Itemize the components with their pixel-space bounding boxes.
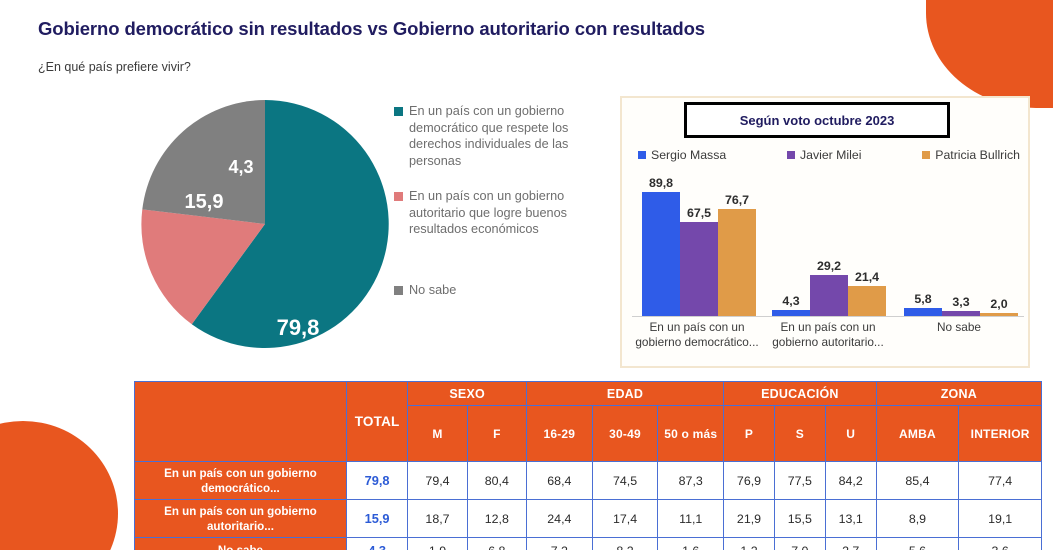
- table-cell: 80,4: [467, 462, 526, 500]
- table-cell-total: 4,3: [346, 538, 407, 550]
- table-header-zona: ZONA: [876, 382, 1041, 406]
- table-header-30-49: 30-49: [592, 406, 658, 462]
- pie-chart: 79,8 15,9 4,3: [140, 98, 390, 350]
- bar-column: 89,8: [642, 176, 680, 316]
- pie-legend-item-nosabe: No sabe: [394, 282, 599, 299]
- bar-value-label: 2,0: [990, 297, 1007, 311]
- table-header-p: P: [724, 406, 775, 462]
- table-cell-total: 79,8: [346, 462, 407, 500]
- pie-legend-label: No sabe: [409, 282, 456, 299]
- bar-legend-item-bullrich: Patricia Bullrich: [922, 148, 1020, 162]
- bar-legend-label: Javier Milei: [800, 148, 862, 162]
- pie-chart-svg: 79,8 15,9 4,3: [140, 98, 390, 350]
- bar-category-label: No sabe: [894, 320, 1024, 335]
- legend-swatch-teal-icon: [394, 107, 403, 116]
- table-cell: 5,6: [876, 538, 959, 550]
- bar-chart-title: Según voto octubre 2023: [740, 113, 895, 128]
- pie-legend-label: En un país con un gobierno democrático q…: [409, 103, 599, 169]
- bar-legend-item-milei: Javier Milei: [787, 148, 862, 162]
- bar-chart-legend: Sergio Massa Javier Milei Patricia Bullr…: [630, 148, 1024, 162]
- decorative-shape-bottom-left: [0, 421, 118, 550]
- table-cell: 87,3: [658, 462, 724, 500]
- bar-category-label: En un país con un gobierno autoritario..…: [762, 320, 894, 349]
- pie-label-autoritario: 15,9: [185, 191, 224, 213]
- table-row: En un país con un gobierno autoritario..…: [135, 500, 1042, 538]
- bar-value-label: 4,3: [782, 294, 799, 308]
- table-cell: 18,7: [408, 500, 467, 538]
- table-row-label: En un país con un gobierno autoritario..…: [135, 500, 347, 538]
- bar-legend-label: Sergio Massa: [651, 148, 726, 162]
- bar-value-label: 3,3: [952, 295, 969, 309]
- table-cell: 84,2: [825, 462, 876, 500]
- table-header-s: S: [774, 406, 825, 462]
- page-title: Gobierno democrático sin resultados vs G…: [38, 18, 705, 40]
- table-cell: 79,4: [408, 462, 467, 500]
- bar-value-label: 76,7: [725, 193, 749, 207]
- bar-chart-title-box: Según voto octubre 2023: [684, 102, 950, 138]
- legend-swatch-gray-icon: [394, 286, 403, 295]
- table-cell: 15,5: [774, 500, 825, 538]
- table-row-label: En un país con un gobierno democrático..…: [135, 462, 347, 500]
- table-cell: 8,2: [592, 538, 658, 550]
- bar-chart-panel: Según voto octubre 2023 Sergio Massa Jav…: [620, 96, 1030, 368]
- pie-legend-label: En un país con un gobierno autoritario q…: [409, 188, 599, 238]
- decorative-shape-top-right: [926, 0, 1053, 108]
- legend-swatch-pink-icon: [394, 192, 403, 201]
- table-cell: 11,1: [658, 500, 724, 538]
- table-header-u: U: [825, 406, 876, 462]
- table-cell: 12,8: [467, 500, 526, 538]
- bar-column: 2,0: [980, 176, 1018, 316]
- table-cell: 7,2: [527, 538, 593, 550]
- table-cell-total: 15,9: [346, 500, 407, 538]
- table-header-amba: AMBA: [876, 406, 959, 462]
- table-header-total: TOTAL: [346, 382, 407, 462]
- table-cell: 19,1: [959, 500, 1042, 538]
- bar-value-label: 5,8: [914, 292, 931, 306]
- table-header-m: M: [408, 406, 467, 462]
- legend-swatch-orange-icon: [922, 151, 930, 159]
- table-header-edad: EDAD: [527, 382, 724, 406]
- table-cell: 7,0: [774, 538, 825, 550]
- bar-column: 29,2: [810, 176, 848, 316]
- crosstab-table: TOTAL SEXO EDAD EDUCACIÓN ZONA M F 16-29…: [134, 381, 1042, 550]
- bar-group-democratico: 89,8 67,5 76,7: [642, 176, 756, 316]
- bar-chart-category-labels: En un país con un gobierno democrático..…: [632, 320, 1024, 370]
- table-row-label: No sabe: [135, 538, 347, 550]
- table-header-educacion: EDUCACIÓN: [724, 382, 877, 406]
- legend-swatch-blue-icon: [638, 151, 646, 159]
- table-cell: 85,4: [876, 462, 959, 500]
- bar-legend-item-massa: Sergio Massa: [638, 148, 726, 162]
- table-cell: 76,9: [724, 462, 775, 500]
- bar-column: 3,3: [942, 176, 980, 316]
- crosstab-table-wrapper: TOTAL SEXO EDAD EDUCACIÓN ZONA M F 16-29…: [134, 381, 1042, 550]
- table-cell: 13,1: [825, 500, 876, 538]
- table-row: No sabe4,31,96,87,28,21,61,27,02,75,63,6: [135, 538, 1042, 550]
- table-cell: 21,9: [724, 500, 775, 538]
- table-header-interior: INTERIOR: [959, 406, 1042, 462]
- bar-rect-massa: [904, 308, 942, 316]
- pie-label-nosabe: 4,3: [228, 157, 253, 177]
- bar-column: 4,3: [772, 176, 810, 316]
- bar-column: 76,7: [718, 176, 756, 316]
- bar-rect-massa: [642, 192, 680, 316]
- bar-value-label: 89,8: [649, 176, 673, 190]
- table-header-sexo: SEXO: [408, 382, 527, 406]
- table-header-blank: [135, 382, 347, 462]
- table-cell: 2,7: [825, 538, 876, 550]
- table-header-16-29: 16-29: [527, 406, 593, 462]
- table-cell: 74,5: [592, 462, 658, 500]
- bar-value-label: 21,4: [855, 270, 879, 284]
- table-header-f: F: [467, 406, 526, 462]
- pie-legend: En un país con un gobierno democrático q…: [394, 103, 599, 315]
- bar-rect-bullrich: [718, 209, 756, 316]
- table-cell: 1,6: [658, 538, 724, 550]
- table-cell: 24,4: [527, 500, 593, 538]
- bar-value-label: 67,5: [687, 206, 711, 220]
- bar-rect-bullrich: [848, 286, 886, 316]
- pie-legend-item-autoritario: En un país con un gobierno autoritario q…: [394, 188, 599, 238]
- bar-legend-label: Patricia Bullrich: [935, 148, 1020, 162]
- table-body: En un país con un gobierno democrático..…: [135, 462, 1042, 550]
- table-cell: 17,4: [592, 500, 658, 538]
- page-subtitle: ¿En qué país prefiere vivir?: [38, 60, 191, 74]
- legend-swatch-purple-icon: [787, 151, 795, 159]
- bar-group-nosabe: 5,8 3,3 2,0: [904, 176, 1018, 316]
- table-cell: 6,8: [467, 538, 526, 550]
- bar-rect-milei: [810, 275, 848, 316]
- bar-category-label: En un país con un gobierno democrático..…: [632, 320, 762, 349]
- pie-legend-item-democratico: En un país con un gobierno democrático q…: [394, 103, 599, 169]
- bar-chart-plot: 89,8 67,5 76,7 4,3 29,2: [632, 176, 1024, 316]
- table-cell: 68,4: [527, 462, 593, 500]
- bar-column: 5,8: [904, 176, 942, 316]
- table-cell: 8,9: [876, 500, 959, 538]
- table-row: En un país con un gobierno democrático..…: [135, 462, 1042, 500]
- table-header-50-o-mas: 50 o más: [658, 406, 724, 462]
- table-cell: 3,6: [959, 538, 1042, 550]
- slide-canvas: Gobierno democrático sin resultados vs G…: [0, 0, 1053, 550]
- bar-value-label: 29,2: [817, 259, 841, 273]
- pie-label-democratico: 79,8: [277, 315, 320, 340]
- bar-chart-axis-line: [632, 316, 1024, 317]
- table-cell: 1,9: [408, 538, 467, 550]
- table-cell: 77,5: [774, 462, 825, 500]
- bar-group-autoritario: 4,3 29,2 21,4: [772, 176, 886, 316]
- table-cell: 1,2: [724, 538, 775, 550]
- bar-column: 67,5: [680, 176, 718, 316]
- table-header-group-row: TOTAL SEXO EDAD EDUCACIÓN ZONA: [135, 382, 1042, 406]
- bar-column: 21,4: [848, 176, 886, 316]
- bar-rect-milei: [680, 222, 718, 317]
- table-cell: 77,4: [959, 462, 1042, 500]
